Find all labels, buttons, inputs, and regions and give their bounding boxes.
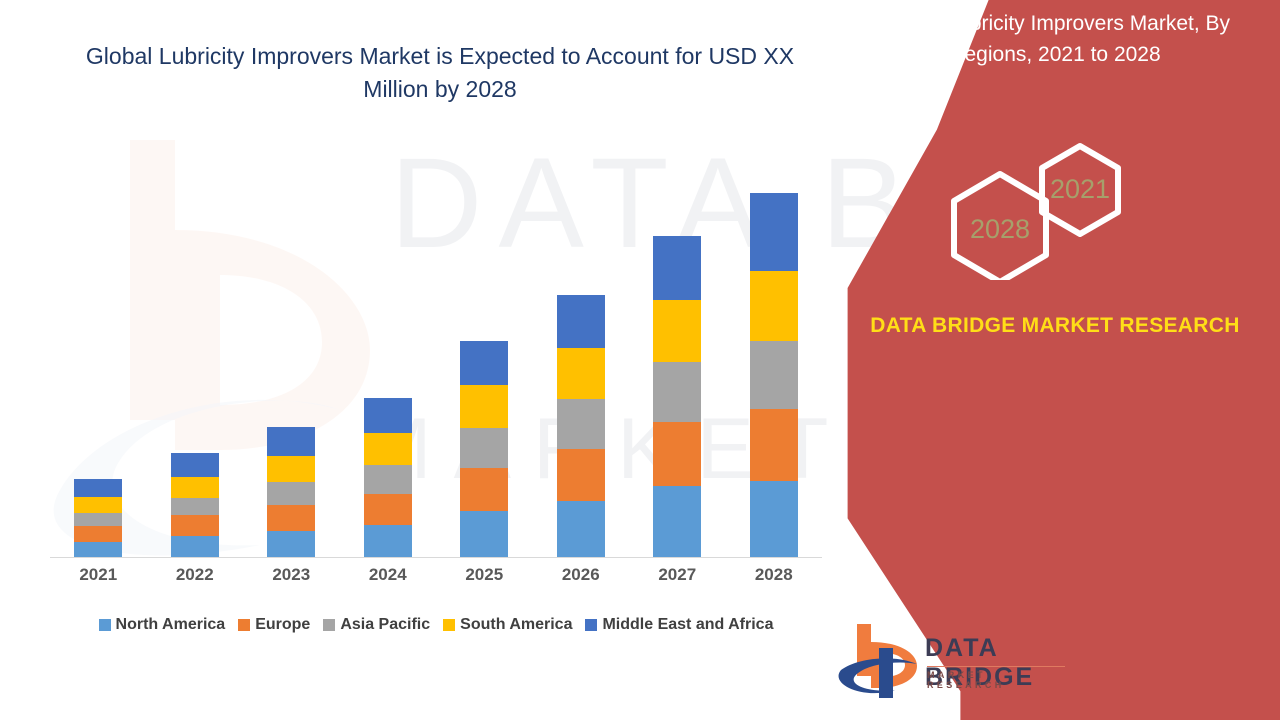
- panel-title: Global Lubricity Improvers Market, By Re…: [840, 8, 1270, 70]
- x-axis-labels: 20212022202320242025202620272028: [50, 565, 822, 585]
- bar-group-2023: [243, 170, 339, 558]
- legend-item-europe[interactable]: Europe: [238, 616, 310, 634]
- bar-segment-europe: [171, 515, 219, 536]
- stacked-bar: [557, 295, 605, 558]
- bar-segment-north-america: [460, 511, 508, 558]
- bar-segment-europe: [364, 494, 412, 525]
- bar-segment-europe: [460, 468, 508, 511]
- bar-segment-asia-pacific: [460, 428, 508, 468]
- bar-segment-asia-pacific: [74, 513, 122, 526]
- legend-item-asia-pacific[interactable]: Asia Pacific: [323, 616, 430, 634]
- bar-segment-asia-pacific: [267, 482, 315, 505]
- x-axis-label-2026: 2026: [533, 565, 629, 585]
- company-logo: DATA BRIDGE MARKET RESEARCH: [835, 620, 1065, 702]
- bar-segment-south-america: [750, 271, 798, 341]
- bar-segment-middle-east-and-africa: [750, 193, 798, 271]
- chart-legend: North AmericaEuropeAsia PacificSouth Ame…: [50, 616, 822, 634]
- logo-divider: [927, 666, 1065, 667]
- right-panel: Global Lubricity Improvers Market, By Re…: [810, 0, 1280, 720]
- bar-segment-north-america: [267, 531, 315, 558]
- stacked-bar: [653, 236, 701, 558]
- stacked-bar: [267, 427, 315, 558]
- bar-segment-asia-pacific: [171, 498, 219, 516]
- bar-segment-asia-pacific: [653, 362, 701, 423]
- legend-label: South America: [460, 616, 572, 634]
- bar-segment-middle-east-and-africa: [267, 427, 315, 456]
- x-axis-label-2024: 2024: [340, 565, 436, 585]
- stacked-bar-chart: [50, 170, 822, 558]
- x-axis-label-2028: 2028: [726, 565, 822, 585]
- hexagon-badges: 2021 2028: [930, 140, 1170, 280]
- legend-item-middle-east-and-africa[interactable]: Middle East and Africa: [585, 616, 773, 634]
- stacked-bar: [364, 398, 412, 558]
- bar-segment-asia-pacific: [364, 465, 412, 494]
- stacked-bar: [171, 453, 219, 558]
- bar-segment-north-america: [74, 542, 122, 558]
- bar-segment-middle-east-and-africa: [460, 341, 508, 385]
- legend-label: Europe: [255, 616, 310, 634]
- stacked-bar: [74, 479, 122, 558]
- legend-item-south-america[interactable]: South America: [443, 616, 572, 634]
- legend-swatch-icon: [443, 619, 455, 631]
- hexagon-2028-label: 2028: [970, 214, 1030, 244]
- bar-segment-south-america: [171, 477, 219, 498]
- x-axis-label-2027: 2027: [629, 565, 725, 585]
- bar-segment-south-america: [557, 348, 605, 399]
- bar-segment-asia-pacific: [557, 399, 605, 449]
- legend-swatch-icon: [238, 619, 250, 631]
- bar-segment-middle-east-and-africa: [364, 398, 412, 433]
- bar-segment-south-america: [74, 497, 122, 513]
- bar-group-2027: [629, 170, 725, 558]
- stacked-bar: [750, 193, 798, 558]
- hexagon-2021-label: 2021: [1050, 174, 1110, 204]
- bar-segment-europe: [750, 409, 798, 481]
- bar-segment-south-america: [267, 456, 315, 482]
- legend-label: Middle East and Africa: [602, 616, 773, 634]
- bar-segment-north-america: [653, 486, 701, 558]
- chart-infographic: DATA BRIDGE MARKET RESEARCH Global Lubri…: [0, 0, 1280, 720]
- bar-group-2022: [147, 170, 243, 558]
- legend-label: Asia Pacific: [340, 616, 430, 634]
- legend-swatch-icon: [323, 619, 335, 631]
- x-axis-line: [50, 557, 822, 558]
- bar-group-2021: [50, 170, 146, 558]
- bar-segment-middle-east-and-africa: [74, 479, 122, 497]
- bar-segment-south-america: [460, 385, 508, 428]
- legend-swatch-icon: [99, 619, 111, 631]
- bar-group-2024: [340, 170, 436, 558]
- legend-item-north-america[interactable]: North America: [99, 616, 226, 634]
- x-axis-label-2022: 2022: [147, 565, 243, 585]
- bar-segment-north-america: [557, 501, 605, 558]
- legend-label: North America: [116, 616, 226, 634]
- bar-segment-north-america: [750, 481, 798, 558]
- bar-segment-south-america: [364, 433, 412, 465]
- logo-tagline: MARKET RESEARCH: [927, 670, 1065, 690]
- bar-segment-middle-east-and-africa: [171, 453, 219, 476]
- stacked-bar: [460, 341, 508, 558]
- brand-name: DATA BRIDGE MARKET RESEARCH: [830, 310, 1280, 342]
- x-axis-label-2023: 2023: [243, 565, 339, 585]
- bar-segment-europe: [267, 505, 315, 531]
- bar-group-2025: [436, 170, 532, 558]
- bar-segment-middle-east-and-africa: [557, 295, 605, 348]
- legend-swatch-icon: [585, 619, 597, 631]
- bar-segment-europe: [653, 422, 701, 486]
- bar-segment-asia-pacific: [750, 341, 798, 409]
- page-title: Global Lubricity Improvers Market is Exp…: [60, 40, 820, 106]
- bar-group-2028: [726, 170, 822, 558]
- bar-segment-north-america: [171, 536, 219, 558]
- bar-segment-middle-east-and-africa: [653, 236, 701, 300]
- bar-segment-europe: [557, 449, 605, 501]
- bar-segment-europe: [74, 526, 122, 542]
- bar-group-2026: [533, 170, 629, 558]
- x-axis-label-2025: 2025: [436, 565, 532, 585]
- x-axis-label-2021: 2021: [50, 565, 146, 585]
- bar-segment-north-america: [364, 525, 412, 558]
- bar-segment-south-america: [653, 300, 701, 362]
